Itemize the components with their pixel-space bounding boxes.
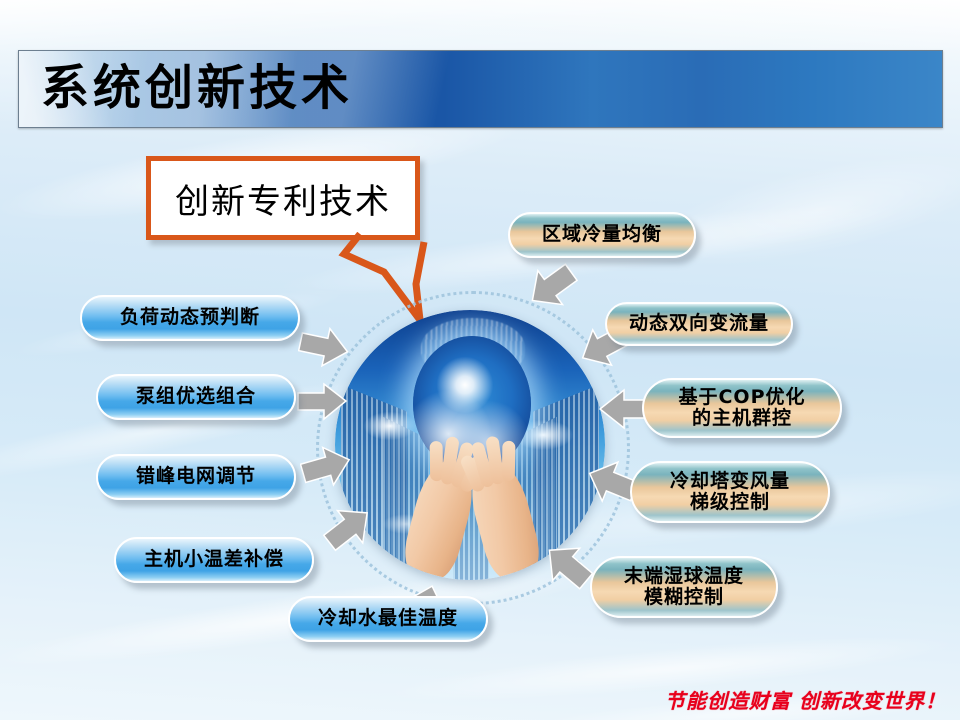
callout-box: 创新专利技术	[146, 156, 420, 240]
item-bidirectional-flow[interactable]: 动态双向变流量	[605, 302, 793, 346]
item-label-line2: 梯级控制	[670, 492, 790, 513]
callout-label: 创新专利技术	[175, 174, 391, 223]
item-label-line2: 模糊控制	[624, 587, 744, 608]
item-label: 主机小温差补偿	[144, 549, 284, 570]
item-load-forecast[interactable]: 负荷动态预判断	[80, 295, 300, 341]
item-label-line1: 基于COP优化	[678, 387, 805, 408]
item-label-line1: 区域冷量均衡	[542, 224, 662, 245]
item-label-line1: 末端湿球温度	[624, 566, 744, 587]
item-label-line1: 冷却塔变风量	[670, 471, 790, 492]
slide-canvas: 系统创新技术 创新专利技术	[0, 0, 960, 720]
item-label: 泵组优选组合	[136, 386, 256, 407]
item-regional-balance[interactable]: 区域冷量均衡	[508, 212, 696, 258]
slide-title-band: 系统创新技术	[18, 50, 943, 128]
item-wet-bulb-fuzzy[interactable]: 末端湿球温度 模糊控制	[590, 556, 778, 618]
page-title: 系统创新技术	[41, 49, 353, 127]
item-cooling-water-temp[interactable]: 冷却水最佳温度	[288, 596, 488, 642]
cloud-streak-icon	[553, 97, 960, 322]
item-label: 错峰电网调节	[136, 466, 256, 487]
item-cop-optimized-control[interactable]: 基于COP优化 的主机群控	[642, 378, 842, 438]
item-peak-shift-grid[interactable]: 错峰电网调节	[96, 454, 296, 500]
footer-slogan: 节能创造财富 创新改变世界！	[665, 685, 946, 714]
item-label: 负荷动态预判断	[120, 307, 260, 328]
item-pump-group[interactable]: 泵组优选组合	[96, 374, 296, 420]
item-chiller-delta-t[interactable]: 主机小温差补偿	[114, 537, 314, 583]
item-label-line1: 动态双向变流量	[629, 313, 769, 334]
center-graphic	[335, 310, 605, 580]
item-label: 冷却水最佳温度	[318, 608, 458, 629]
item-cooling-tower-fan[interactable]: 冷却塔变风量 梯级控制	[630, 461, 830, 523]
item-label-line2: 的主机群控	[678, 408, 805, 429]
hands-holding-globe-photo	[335, 310, 605, 580]
